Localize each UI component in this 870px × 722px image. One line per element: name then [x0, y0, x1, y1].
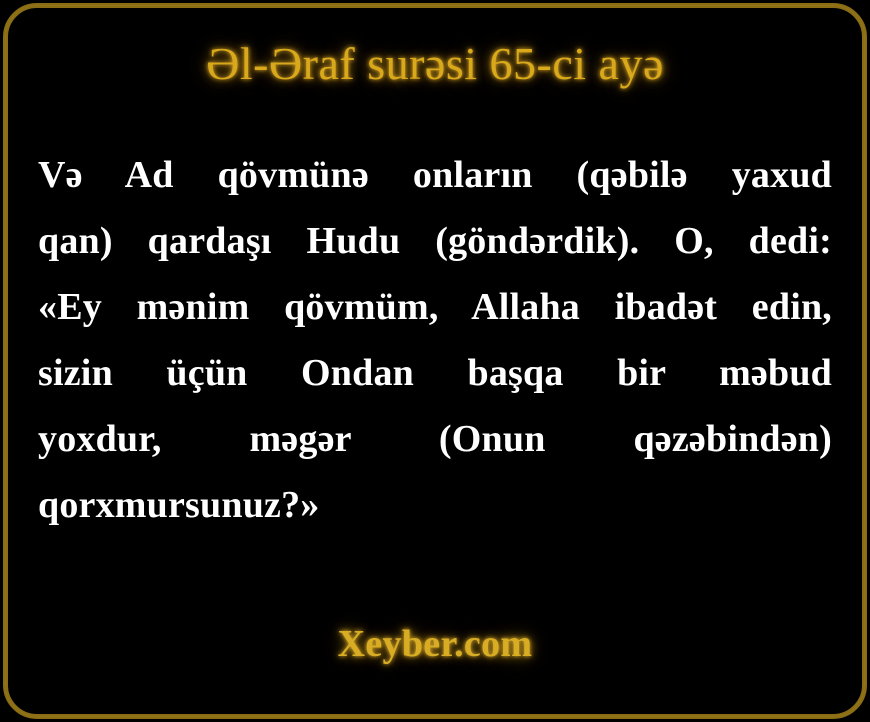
- page-title: Əl-Əraf surəsi 65-ci ayə: [0, 38, 870, 91]
- verse-line: Və Ad qövmünə onların (qəbilə yaxud: [38, 142, 832, 208]
- site-watermark: Xeyber.com: [0, 622, 870, 666]
- verse-line: «Ey mənim qövmüm, Allaha ibadət edin,: [38, 274, 832, 340]
- verse-line: sizin üçün Ondan başqa bir məbud: [38, 340, 832, 406]
- verse-card: Əl-Əraf surəsi 65-ci ayə Və Ad qövmünə o…: [0, 0, 870, 722]
- verse-line: qan) qardaşı Hudu (göndərdik). O, dedi:: [38, 208, 832, 274]
- verse-line: qorxmursunuz?»: [38, 472, 832, 538]
- verse-line: yoxdur, məgər (Onun qəzəbindən): [38, 406, 832, 472]
- verse-text: Və Ad qövmünə onların (qəbilə yaxud qan)…: [38, 142, 832, 538]
